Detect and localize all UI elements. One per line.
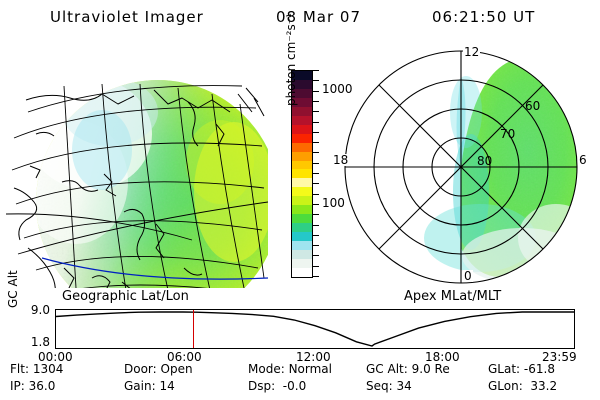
status-flt: Flt: 1304 — [10, 362, 63, 376]
status-gain: Gain: 14 — [124, 379, 175, 393]
colorbar-minor-tick — [313, 194, 319, 195]
header-bar: Ultraviolet Imager 08 Mar 07 06:21:50 UT — [0, 8, 600, 32]
mlat-label-80: 80 — [477, 155, 492, 167]
observation-time: 06:21:50 UT — [432, 8, 535, 26]
colorbar-minor-tick — [313, 276, 319, 277]
colorbar-minor-tick — [313, 101, 319, 102]
polar-emission-region — [424, 57, 592, 284]
colorbar-band-11 — [292, 169, 312, 178]
colorbar-band-13 — [292, 187, 312, 196]
colorbar-band-4 — [292, 107, 312, 116]
colorbar-band-8 — [292, 143, 312, 152]
status-ip-value: 36.0 — [29, 379, 56, 393]
status-dsp-label: Dsp: — [248, 379, 275, 393]
colorbar-minor-tick — [313, 245, 319, 246]
mlt-label-6: 6 — [578, 154, 588, 166]
colorbar-band-5 — [292, 116, 312, 125]
status-glat: GLat: -61.8 — [488, 362, 555, 376]
status-seq: Seq: 34 — [366, 379, 412, 393]
colorbar-band-19 — [292, 241, 312, 250]
colorbar-minor-tick — [313, 152, 319, 153]
status-gain-value: 14 — [159, 379, 174, 393]
colorbar-minor-tick — [313, 225, 319, 226]
colorbar-band-17 — [292, 223, 312, 232]
colorbar-minor-tick — [313, 132, 319, 133]
colorbar-band-21 — [292, 259, 312, 268]
geographic-image-panel[interactable] — [6, 42, 268, 288]
colorbar-band-12 — [292, 178, 312, 187]
strip-ytick-min: 1.8 — [18, 335, 50, 349]
colorbar-band-18 — [292, 232, 312, 241]
colorbar-minor-tick — [313, 111, 319, 112]
status-gcalt-value: 9.0 Re — [412, 362, 450, 376]
status-seq-label: Seq: — [366, 379, 393, 393]
colorbar-band-20 — [292, 250, 312, 259]
colorbar-band-7 — [292, 134, 312, 143]
status-glon: GLon: 33.2 — [488, 379, 557, 393]
status-flt-value: 1304 — [33, 362, 64, 376]
colorbar-minor-tick — [313, 214, 319, 215]
status-gcalt: GC Alt: 9.0 Re — [366, 362, 450, 376]
polar-plot-svg — [330, 42, 592, 288]
status-ip: IP: 36.0 — [10, 379, 55, 393]
status-dsp-value: -0.0 — [283, 379, 306, 393]
colorbar-band-9 — [292, 152, 312, 161]
colorbar-minor-tick — [313, 204, 319, 205]
mlt-label-12: 12 — [463, 46, 480, 58]
status-door-label: Door: — [124, 362, 157, 376]
mlt-label-0: 0 — [463, 270, 473, 282]
status-door-value: Open — [161, 362, 193, 376]
status-gain-label: Gain: — [124, 379, 156, 393]
colorbar-axis-label: photon cm⁻²s⁻¹ — [284, 13, 298, 106]
colorbar-band-6 — [292, 125, 312, 134]
colorbar-minor-tick — [313, 173, 319, 174]
altitude-curve — [56, 312, 574, 346]
status-glon-value: 33.2 — [530, 379, 557, 393]
colorbar-band-10 — [292, 161, 312, 170]
strip-plot-area[interactable] — [55, 309, 575, 349]
instrument-title: Ultraviolet Imager — [50, 8, 204, 26]
polar-magnetic-panel[interactable]: 12 18 6 0 60 70 80 — [330, 42, 592, 288]
altitude-curve-svg — [56, 310, 574, 348]
status-door: Door: Open — [124, 362, 193, 376]
status-flt-label: Flt: — [10, 362, 29, 376]
colorbar-minor-tick — [313, 255, 319, 256]
colorbar-minor-tick — [313, 163, 319, 164]
orbit-altitude-strip[interactable]: GC Alt 9.0 1.8 00:00 06:00 12:00 18:00 2… — [0, 300, 600, 358]
status-glat-label: GLat: — [488, 362, 520, 376]
colorbar-band-16 — [292, 214, 312, 223]
colorbar-minor-tick — [313, 70, 319, 71]
mlat-label-60: 60 — [525, 100, 540, 112]
status-mode: Mode: Normal — [248, 362, 332, 376]
geographic-plot-svg — [6, 42, 268, 288]
status-glon-label: GLon: — [488, 379, 523, 393]
status-gcalt-label: GC Alt: — [366, 362, 408, 376]
colorbar-band-22 — [292, 268, 312, 277]
colorbar-band-15 — [292, 205, 312, 214]
status-mode-value: Normal — [289, 362, 332, 376]
status-seq-value: 34 — [397, 379, 412, 393]
status-bar: Flt: 1304 IP: 36.0 Door: Open Gain: 14 M… — [0, 362, 600, 398]
status-glat-value: -61.8 — [524, 362, 555, 376]
status-mode-label: Mode: — [248, 362, 285, 376]
colorbar-minor-tick — [313, 142, 319, 143]
colorbar-band-14 — [292, 196, 312, 205]
polar-grid-spokes — [345, 51, 577, 283]
colorbar-minor-tick — [313, 235, 319, 236]
mlat-label-70: 70 — [500, 128, 515, 140]
colorbar-minor-tick — [313, 266, 319, 267]
colorbar-minor-tick — [313, 183, 319, 184]
colorbar-minor-tick — [313, 122, 319, 123]
status-ip-label: IP: — [10, 379, 25, 393]
time-cursor[interactable] — [193, 310, 194, 348]
strip-ytick-max: 9.0 — [18, 303, 50, 317]
colorbar-minor-tick — [313, 91, 319, 92]
status-dsp: Dsp: -0.0 — [248, 379, 306, 393]
colorbar-minor-tick — [313, 80, 319, 81]
mlt-label-18: 18 — [332, 154, 349, 166]
